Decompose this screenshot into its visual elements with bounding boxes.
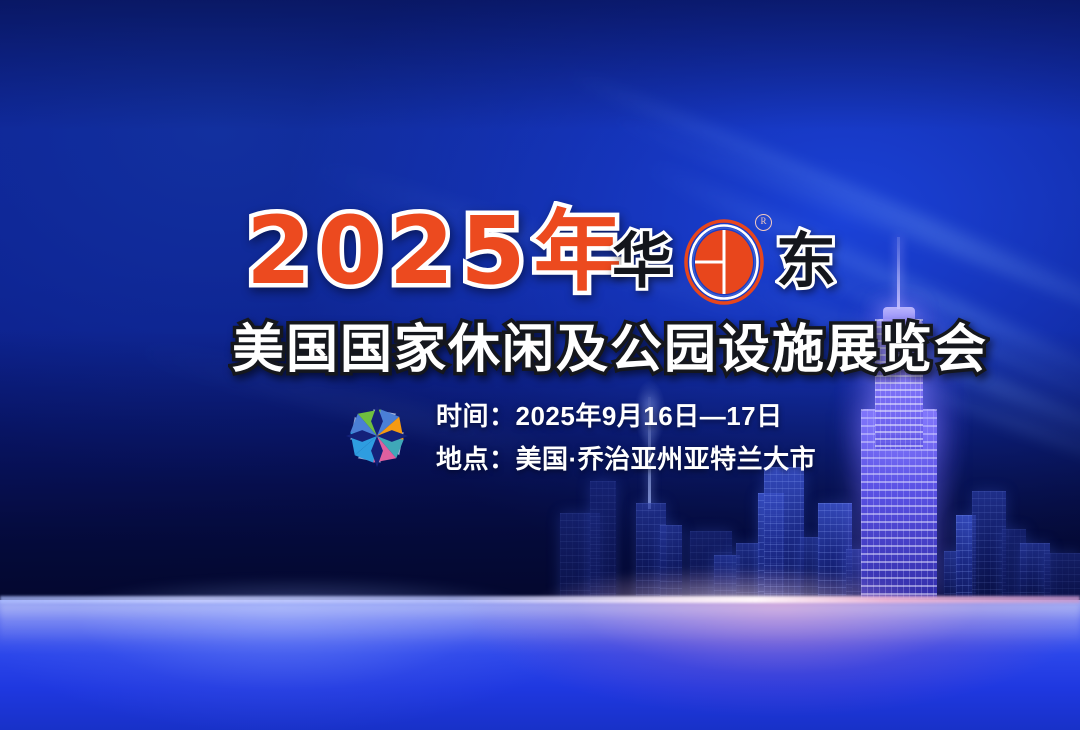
brand-lockup: 华 R 东	[612, 218, 836, 306]
event-banner: 2025 年 华 R 东 美国国家休闲及公园设施展览会	[0, 0, 1080, 730]
brand-char-left: 华	[612, 232, 672, 292]
event-location: 地点：美国·乔治亚州亚特兰大市	[436, 439, 816, 476]
circular-emblem-icon: R	[682, 218, 766, 306]
event-info: 时间：2025年9月16日—17日 地点：美国·乔治亚州亚特兰大市	[340, 396, 816, 476]
event-info-lines: 时间：2025年9月16日—17日 地点：美国·乔治亚州亚特兰大市	[436, 396, 816, 476]
banner-content: 2025 年 华 R 东 美国国家休闲及公园设施展览会	[0, 0, 1080, 730]
headline-year-suffix: 年	[534, 208, 622, 296]
brand-char-right: 东	[776, 232, 836, 292]
registered-trademark-icon: R	[755, 214, 772, 231]
pinwheel-star-icon	[340, 399, 414, 473]
event-date: 时间：2025年9月16日—17日	[436, 396, 816, 433]
event-subtitle: 美国国家休闲及公园设施展览会	[232, 322, 988, 378]
headline-year: 2025	[246, 205, 532, 299]
headline: 2025 年	[246, 205, 622, 299]
